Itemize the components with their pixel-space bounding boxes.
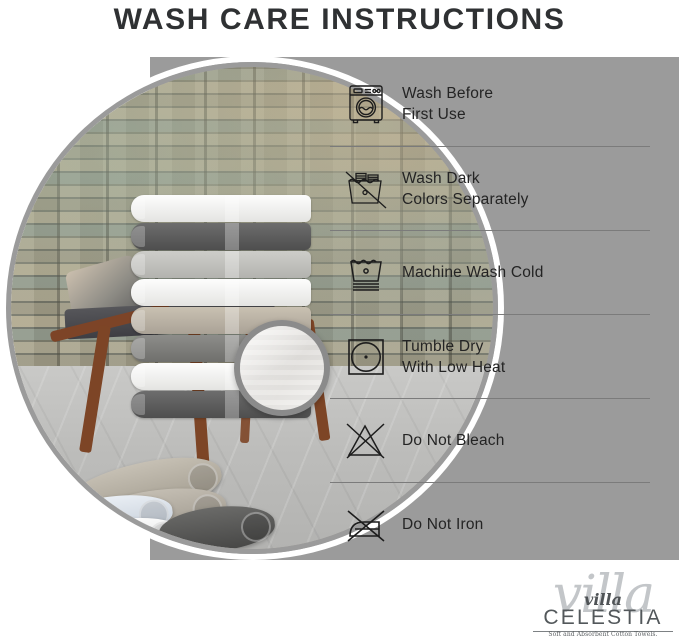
folded-towel bbox=[131, 223, 311, 250]
care-label: Tumble Dry With Low Heat bbox=[402, 336, 505, 378]
do-not-bleach-icon bbox=[330, 418, 402, 464]
logo-tagline: Soft and Absorbent Cotton Towels. bbox=[533, 631, 673, 638]
brand-logo: villa villa CELESTIA Soft and Absorbent … bbox=[533, 566, 673, 640]
care-label: Do Not Bleach bbox=[402, 430, 505, 451]
care-row-wash-dark-colors-separately: Wash Dark Colors Separately bbox=[330, 146, 650, 230]
page-title: WASH CARE INSTRUCTIONS bbox=[0, 2, 679, 38]
care-label: Do Not Iron bbox=[402, 514, 483, 535]
care-label: Wash Before First Use bbox=[402, 83, 493, 125]
folded-towel bbox=[131, 251, 311, 278]
tumble-dry-low-heat-icon bbox=[330, 334, 402, 380]
folded-towel bbox=[131, 279, 311, 306]
do-not-iron-icon bbox=[330, 502, 402, 548]
washing-machine-icon bbox=[330, 81, 402, 127]
care-row-wash-before-first-use: Wash Before First Use bbox=[330, 62, 650, 146]
wash-dark-colors-separately-icon bbox=[330, 166, 402, 212]
wash-care-infographic: WASH CARE INSTRUCTIONS bbox=[0, 0, 679, 642]
care-row-tumble-dry-low-heat: Tumble Dry With Low Heat bbox=[330, 314, 650, 398]
folded-towel bbox=[131, 195, 311, 222]
towel-texture-magnifier bbox=[234, 320, 330, 416]
care-row-do-not-bleach: Do Not Bleach bbox=[330, 398, 650, 482]
care-row-do-not-iron: Do Not Iron bbox=[330, 482, 650, 566]
care-instruction-list: Wash Before First Use Wash Dark Colo bbox=[330, 62, 650, 566]
care-row-machine-wash-cold: Machine Wash Cold bbox=[330, 230, 650, 314]
machine-wash-cold-icon bbox=[330, 250, 402, 296]
logo-brand-name: CELESTIA bbox=[533, 606, 673, 632]
care-label: Wash Dark Colors Separately bbox=[402, 168, 529, 210]
care-label: Machine Wash Cold bbox=[402, 262, 544, 283]
